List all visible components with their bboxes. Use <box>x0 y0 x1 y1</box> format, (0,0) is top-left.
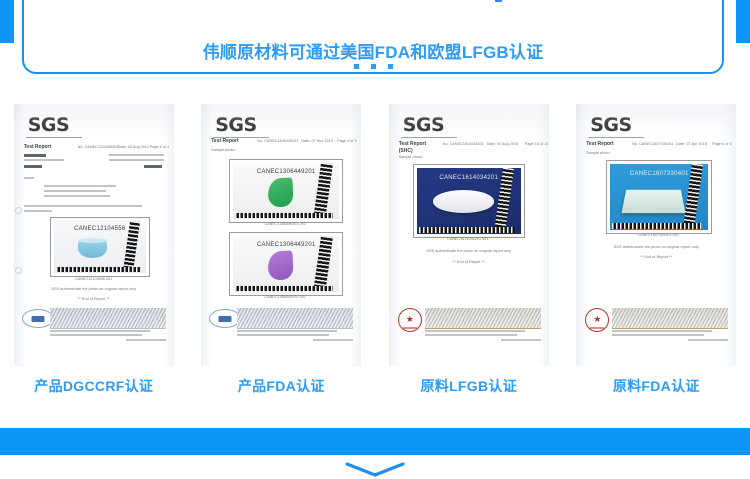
report-subtitle: (SHC) <box>399 149 413 154</box>
authenticate-note: SGS authenticate the photo on original r… <box>14 288 174 292</box>
product-drop-purple <box>268 250 294 280</box>
plate-caption-top: CANEC1306449201.001 <box>229 223 341 227</box>
report-no: No. CANEC1607330401 <box>632 143 673 147</box>
punch-hole-bottom <box>15 267 22 274</box>
dot-1 <box>354 64 359 69</box>
sgs-logo: SGS <box>215 116 256 135</box>
product-bowl-rim <box>78 238 107 243</box>
note-line-1 <box>44 185 116 187</box>
report-title: Test Report <box>24 145 51 150</box>
report-no: No. CANEC1210465801 <box>78 146 119 150</box>
sgs-logo-rule <box>26 137 82 138</box>
certificate-item[interactable]: SGS Test Report No. CANEC1210465801 Date… <box>0 104 188 396</box>
sample-photo-plate: CANEC1614034201 <box>413 164 525 238</box>
decorative-tab-right <box>736 0 750 43</box>
table-row-line <box>24 159 64 161</box>
footer-security-print <box>50 308 166 329</box>
decorative-tab-left <box>0 0 14 43</box>
certificate-scan[interactable]: SGS Test Report No. CANEC1306449201 Date… <box>201 104 361 366</box>
certificate-footer: ★ <box>397 308 541 342</box>
sample-note: Sample photo: <box>211 149 235 153</box>
authenticate-note: SGS authenticate the photo on original r… <box>576 246 736 250</box>
certificate-footer: ★ <box>584 308 728 342</box>
authenticate-note: SGS authenticate the photo on original r… <box>389 250 549 254</box>
end-of-report-note: ** End of Report ** <box>14 298 174 302</box>
certificate-scan[interactable]: SGS Test Report No. CANEC1210465801 Date… <box>14 104 174 366</box>
certificate-caption: 原料LFGB认证 <box>420 376 517 396</box>
punch-hole-top <box>15 207 22 214</box>
sample-photo-plate: CANEC1607330401 <box>606 160 712 234</box>
title-frame-notch <box>495 0 502 2</box>
dot-2 <box>371 64 376 69</box>
table-total-line <box>24 165 42 168</box>
sample-code-top: CANEC1306449201 <box>233 169 339 175</box>
product-drop-green <box>268 177 294 207</box>
table-cols-line-2 <box>109 159 164 161</box>
certificate-caption: 产品DGCCRF认证 <box>34 376 153 396</box>
report-title: Test Report <box>399 142 426 147</box>
report-date: Date: 27 Apr 2016 <box>676 143 707 147</box>
report-date: Date: 03 Aug 2012 <box>118 146 149 150</box>
report-date: Date: 07 Nov 2013 <box>301 140 333 144</box>
ruler-horizontal <box>56 267 141 272</box>
end-of-report-note: ** End of Report ** <box>576 256 736 260</box>
product-silicone-mat <box>621 190 685 213</box>
sample-note: Sample photo: <box>399 156 423 160</box>
plate-caption-bottom: CANEC1306449201.002 <box>229 296 341 300</box>
certificate-grid: SGS Test Report No. CANEC1210465801 Date… <box>0 104 750 396</box>
ruler-horizontal <box>235 286 333 291</box>
notes-label-line <box>24 177 34 179</box>
report-page: Page 6 of 6 <box>712 143 731 147</box>
header-subtitle: 伟顺原材料可通过美国FDA和欧盟LFGB认证 <box>24 38 722 63</box>
footer-contact-lines <box>50 330 166 342</box>
sample-photo-plate-top: CANEC1306449201 <box>229 159 343 223</box>
certificate-item[interactable]: SGS Test Report No. CANEC1607330401 Date… <box>563 104 750 396</box>
footer-security-print <box>612 308 728 329</box>
decorative-dots <box>24 64 722 69</box>
report-no: No. CANEC1614034201 <box>443 143 484 147</box>
cnas-seal-icon: ★ <box>398 308 422 332</box>
end-of-report-note: ** End of Report ** <box>389 261 549 265</box>
report-page: Page 16 of 16 <box>525 143 549 147</box>
footer-contact-lines <box>237 330 353 342</box>
sample-photo: CANEC1614034201 <box>417 168 521 234</box>
sgs-logo-rule <box>401 137 457 138</box>
sgs-logo: SGS <box>403 116 444 135</box>
certificate-scan[interactable]: SGS Test Report (SHC) No. CANEC161403420… <box>389 104 549 366</box>
report-page: Page 4 of 4 <box>150 146 169 150</box>
table-cols-line-1 <box>109 154 164 156</box>
sample-note: Sample photo: <box>586 152 610 156</box>
certificate-item[interactable]: SGS Test Report No. CANEC1306449201 Date… <box>188 104 376 396</box>
ruler-horizontal <box>235 213 333 218</box>
report-no: No. CANEC1306449201 <box>257 140 298 144</box>
table-cols-line-3 <box>144 165 162 168</box>
footer-security-print <box>237 308 353 329</box>
report-date: Date: 01 Aug 2016 <box>487 143 518 147</box>
sample-photo-green: CANEC1306449201 <box>233 163 339 219</box>
note-line-3 <box>44 195 110 197</box>
footer-contact-lines <box>425 330 541 342</box>
ruler-horizontal <box>419 227 515 233</box>
sample-code: CANEC1607330401 <box>610 171 708 177</box>
chevron-down-icon[interactable] <box>343 462 407 478</box>
certificate-item[interactable]: SGS Test Report (SHC) No. CANEC161403420… <box>375 104 563 396</box>
footer-contact-lines <box>612 330 728 342</box>
remark-line-1 <box>24 205 142 207</box>
dot-3 <box>388 64 393 69</box>
note-line-2 <box>44 190 106 192</box>
sgs-logo: SGS <box>590 116 631 135</box>
sample-photo-purple: CANEC1306449201 <box>233 236 339 292</box>
plate-caption: CANEC12104556.001 <box>14 278 174 282</box>
sample-photo: CANEC1607330401 <box>610 164 708 230</box>
section-divider-bar <box>0 428 750 455</box>
certificate-caption: 原料FDA认证 <box>613 376 700 396</box>
table-header-line <box>24 154 46 157</box>
certificate-footer <box>209 308 353 342</box>
sgs-logo-rule <box>588 137 644 138</box>
footer-security-print <box>425 308 541 329</box>
plate-caption: CANEC1614034201.001 <box>413 238 523 242</box>
sample-code-bottom: CANEC1306449201 <box>233 242 339 248</box>
sample-photo-plate: CANEC12104556 <box>50 217 150 277</box>
cnas-seal-icon: ★ <box>585 308 609 332</box>
certification-section: 检测认证 伟顺原材料可通过美国FDA和欧盟LFGB认证 SGS Test Rep… <box>0 0 750 479</box>
sample-photo-plate-bottom: CANEC1306449201 <box>229 232 343 296</box>
sample-code: CANEC12104556 <box>54 226 146 232</box>
header-banner: 检测认证 伟顺原材料可通过美国FDA和欧盟LFGB认证 <box>22 0 724 74</box>
sgs-logo: SGS <box>28 116 69 135</box>
ruler-horizontal <box>612 223 702 229</box>
certificate-footer <box>22 308 166 342</box>
report-title: Test Report <box>586 142 613 147</box>
product-white-case <box>433 190 493 212</box>
sample-code: CANEC1614034201 <box>417 175 521 181</box>
certificate-caption: 产品FDA认证 <box>238 376 325 396</box>
report-page: Page 4 of 5 <box>337 140 356 144</box>
sample-photo: CANEC12104556 <box>54 221 146 273</box>
scroll-down-indicator[interactable] <box>0 462 750 478</box>
remark-line-2 <box>24 210 52 212</box>
plate-caption: CANEC1607330401.001 <box>606 234 710 238</box>
certificate-scan[interactable]: SGS Test Report No. CANEC1607330401 Date… <box>576 104 736 366</box>
report-title: Test Report <box>211 139 238 144</box>
